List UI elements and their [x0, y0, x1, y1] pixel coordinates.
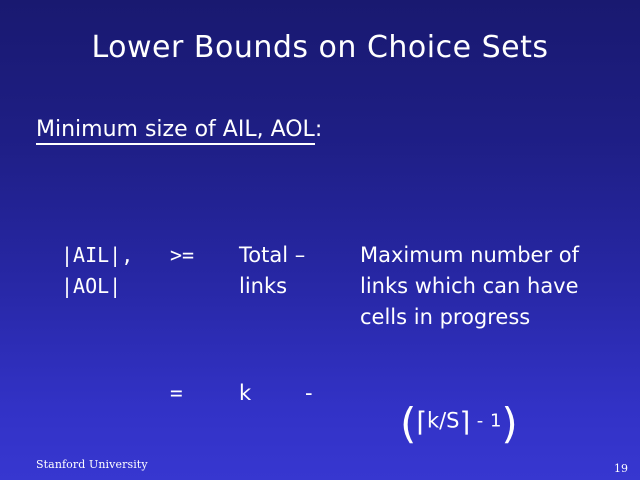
slide-title: Lower Bounds on Choice Sets [0, 30, 640, 66]
ceiling-open-bracket-icon: ⌈ [416, 407, 427, 438]
equation-operator: - [305, 378, 313, 409]
equation-middle-term: k [239, 378, 251, 409]
subtitle-underlined-text: Minimum size of AIL, AOL [36, 117, 315, 145]
inequality-lhs: |AIL|, |AOL| [61, 240, 133, 302]
close-paren-glyph: ) [501, 399, 517, 448]
constant-one: 1 [490, 411, 501, 432]
inequality-right-term: Maximum number of links which can have c… [360, 240, 579, 333]
inequality-middle-term: Total – links [239, 240, 305, 302]
ceiling-body: k/S [427, 409, 460, 433]
slide-page-number: 19 [614, 462, 628, 476]
ceiling-close-bracket-icon: ⌉ [460, 407, 471, 438]
inequality-relation: >= [170, 240, 194, 271]
equation-right-expression: (⌈k/S⌉ - 1) [400, 369, 518, 442]
subtitle-colon: : [315, 117, 322, 142]
slide-canvas: Lower Bounds on Choice Sets Minimum size… [0, 0, 640, 480]
footer-organization: Stanford University [36, 458, 148, 472]
slide-subtitle: Minimum size of AIL, AOL: [36, 116, 322, 144]
open-paren-glyph: ( [400, 399, 416, 448]
equation-relation: = [170, 378, 183, 409]
